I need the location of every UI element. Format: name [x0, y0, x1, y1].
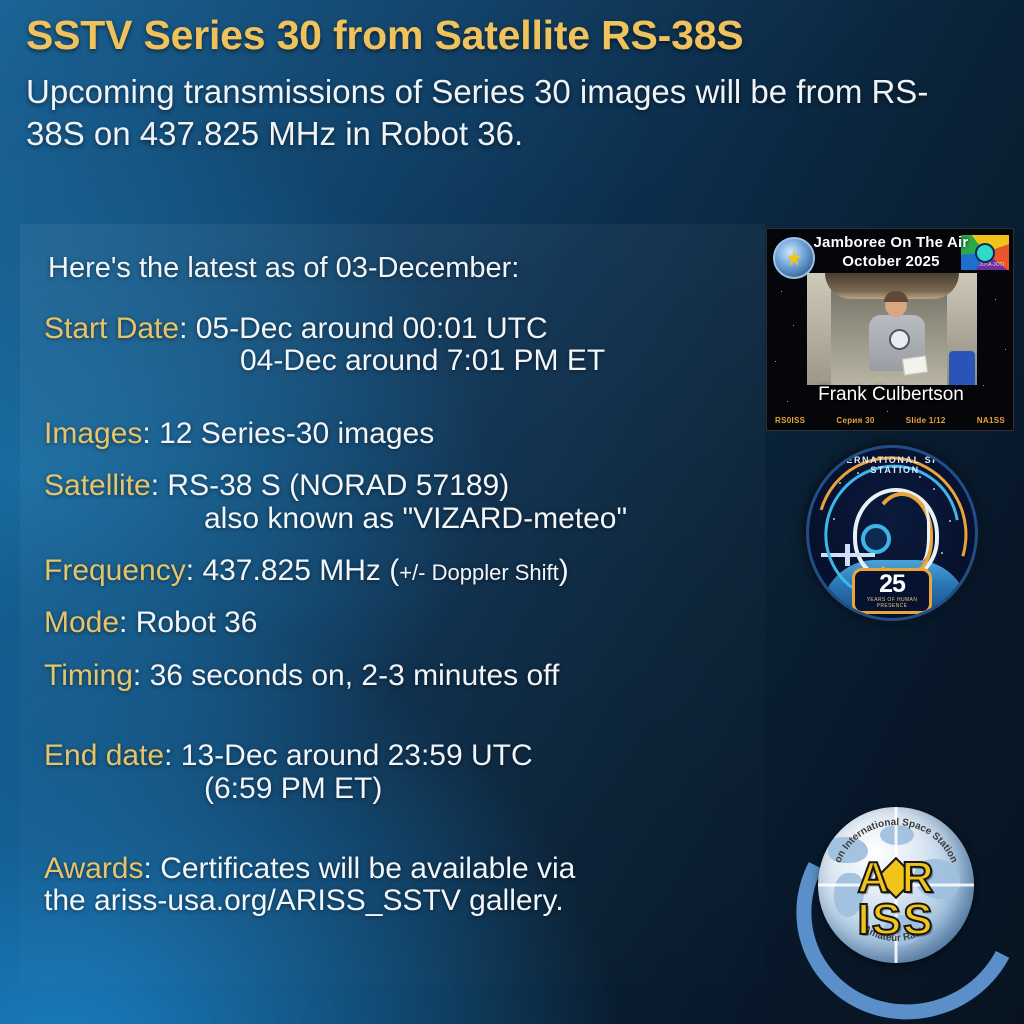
iss-25th-anniversary-patch: INTERNATIONAL SPACE STATION 25 YEARS OF … — [806, 445, 978, 621]
patch-subtitle: YEARS OF HUMAN PRESENCE — [855, 597, 929, 609]
detail-value-frequency-tail: ) — [559, 554, 569, 587]
detail-row-images: Images: 12 Series-30 images — [44, 418, 755, 450]
detail-label-timing: Timing — [44, 659, 133, 692]
detail-label-frequency: Frequency — [44, 554, 186, 587]
sstv-sample-image: JOTA-JOTI Jamboree On The Air October 20… — [766, 228, 1014, 431]
sstv-footer-slide: Slide 1/12 — [906, 416, 946, 425]
colon: : — [179, 312, 187, 345]
sstv-header-line2: October 2025 — [767, 252, 1014, 271]
detail-value-images: 12 Series-30 images — [159, 417, 434, 450]
page-subtitle: Upcoming transmissions of Series 30 imag… — [26, 71, 986, 154]
patch-disc: INTERNATIONAL SPACE STATION 25 YEARS OF … — [806, 445, 978, 621]
detail-row-end-date: End date: 13-Dec around 23:59 UTC — [44, 740, 755, 772]
patch-anniversary-badge: 25 YEARS OF HUMAN PRESENCE — [852, 568, 932, 614]
detail-label-mode: Mode — [44, 606, 119, 639]
sstv-header-text: Jamboree On The Air October 2025 — [767, 233, 1014, 271]
detail-value-end-date: 13-Dec around 23:59 UTC — [181, 739, 533, 772]
page-title: SSTV Series 30 from Satellite RS-38S — [26, 14, 998, 57]
sstv-footer-callsign-2: NA1SS — [977, 416, 1005, 425]
patch-number: 25 — [855, 571, 929, 597]
detail-cont-start-date: 04-Dec around 7:01 PM ET — [240, 345, 755, 377]
sstv-header-line1: Jamboree On The Air — [767, 233, 1014, 252]
detail-row-timing: Timing: 36 seconds on, 2-3 minutes off — [44, 660, 755, 692]
ariss-logo: on International Space Station Amateur R… — [790, 795, 1002, 995]
details-panel: Here's the latest as of 03-December: Sta… — [20, 224, 765, 983]
sstv-caption: Frank Culbertson — [767, 384, 1014, 406]
colon: : — [133, 659, 141, 692]
patch-ring-text: INTERNATIONAL SPACE STATION — [809, 455, 978, 475]
detail-row-frequency: Frequency: 437.825 MHz (+/- Doppler Shif… — [44, 555, 755, 587]
sstv-footer: RS0ISS Серия 30 Slide 1/12 NA1SS — [775, 416, 1005, 425]
detail-value-start-date: 05-Dec around 00:01 UTC — [196, 312, 548, 345]
detail-value-satellite: RS-38 S (NORAD 57189) — [167, 469, 509, 502]
detail-row-awards: Awards: Certificates will be available v… — [44, 853, 755, 885]
detail-value-frequency: 437.825 MHz ( — [202, 554, 399, 587]
detail-value-timing: 36 seconds on, 2-3 minutes off — [150, 659, 560, 692]
ariss-acronym-bottom: ISS — [858, 899, 935, 941]
detail-cont-satellite: also known as "VIZARD-meteo" — [204, 503, 755, 535]
sstv-footer-callsign-1: RS0ISS — [775, 416, 805, 425]
colon: : — [164, 739, 172, 772]
colon: : — [151, 469, 159, 502]
detail-label-satellite: Satellite — [44, 469, 151, 502]
intro-line: Here's the latest as of 03-December: — [48, 254, 755, 283]
detail-cont-end-date: (6:59 PM ET) — [204, 773, 755, 805]
detail-row-mode: Mode: Robot 36 — [44, 607, 755, 639]
astronaut-photo — [807, 273, 977, 385]
colon: : — [142, 417, 150, 450]
detail-value-mode: Robot 36 — [136, 606, 258, 639]
module-panel-left — [807, 273, 831, 385]
held-card — [902, 355, 928, 375]
colon: : — [119, 606, 127, 639]
blue-stowage-bag — [949, 351, 975, 385]
shirt-emblem — [889, 329, 910, 350]
sstv-footer-series: Серия 30 — [836, 416, 874, 425]
poster-header: SSTV Series 30 from Satellite RS-38S Upc… — [0, 0, 1024, 154]
detail-label-end-date: End date — [44, 739, 164, 772]
detail-value-awards: Certificates will be available via — [160, 852, 575, 885]
ariss-acronym-top: A R — [857, 857, 934, 899]
detail-row-start-date: Start Date: 05-Dec around 00:01 UTC — [44, 313, 755, 345]
detail-row-satellite: Satellite: RS-38 S (NORAD 57189) — [44, 470, 755, 502]
detail-cont-awards: the ariss-usa.org/ARISS_SSTV gallery. — [44, 885, 755, 917]
detail-label-start-date: Start Date — [44, 312, 179, 345]
colon: : — [186, 554, 194, 587]
globe-icon: on International Space Station Amateur R… — [818, 807, 974, 963]
detail-note-doppler: +/- Doppler Shift — [399, 560, 559, 585]
colon: : — [144, 852, 152, 885]
sstv-announcement-poster: SSTV Series 30 from Satellite RS-38S Upc… — [0, 0, 1024, 1024]
detail-label-images: Images — [44, 417, 142, 450]
detail-label-awards: Awards — [44, 852, 144, 885]
